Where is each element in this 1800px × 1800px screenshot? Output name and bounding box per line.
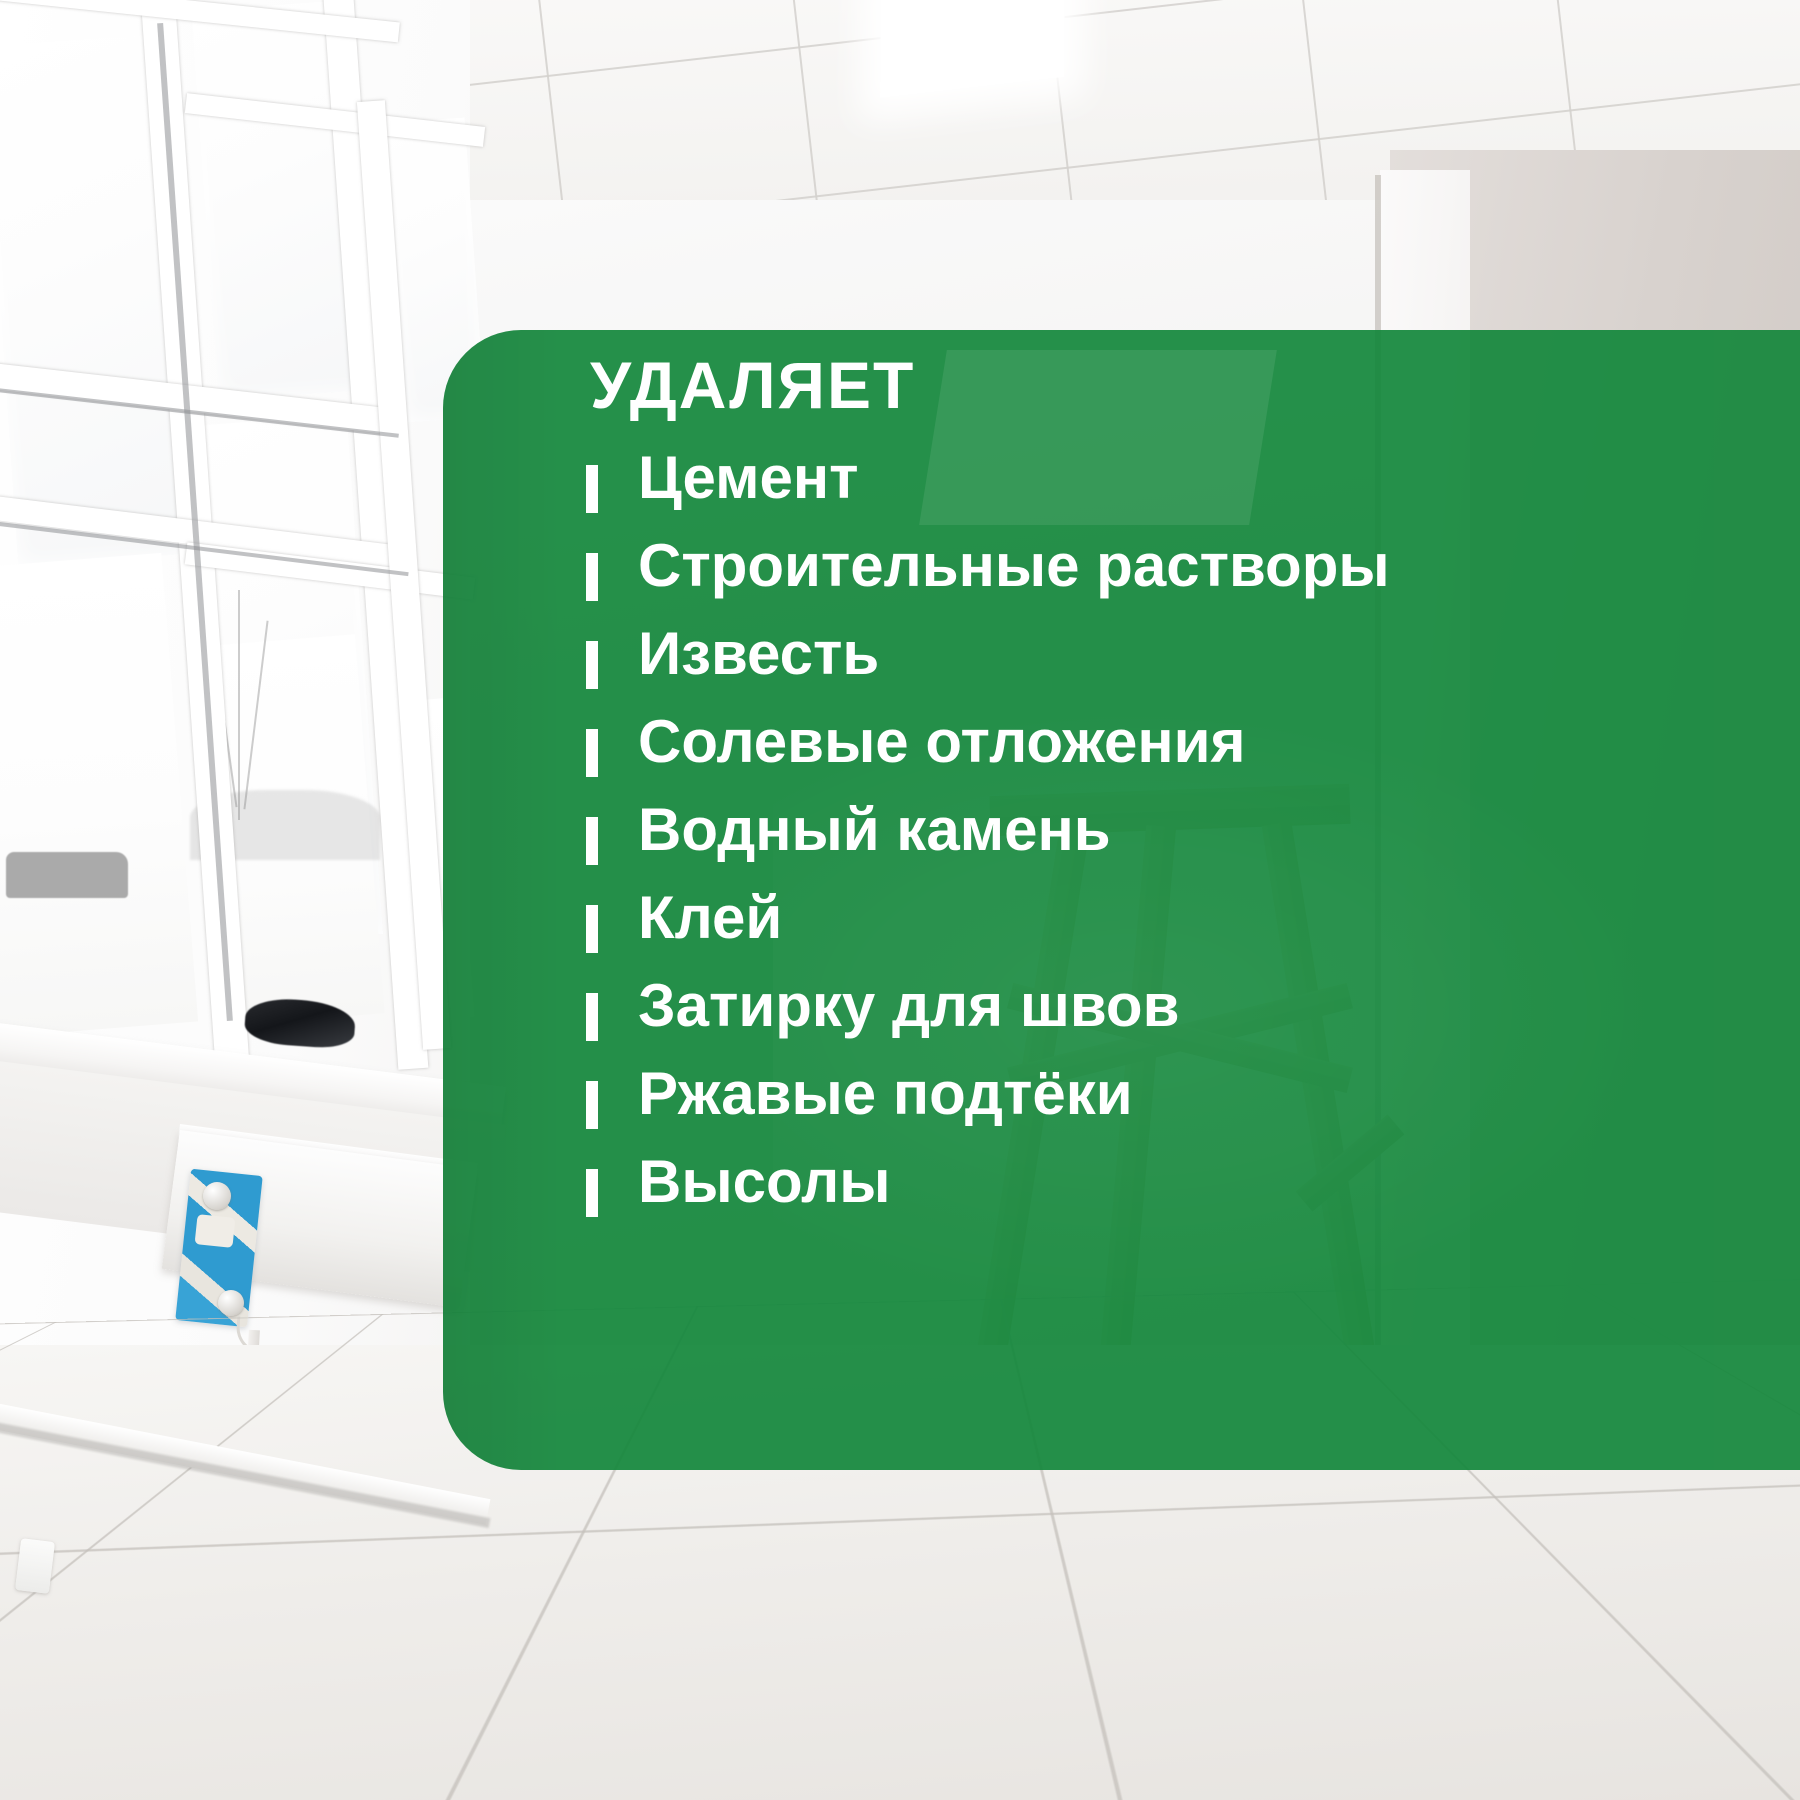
radiator-tape (195, 1214, 236, 1248)
bar-bullet-icon (586, 1169, 598, 1217)
list-item: Цемент (586, 448, 1786, 536)
list-item-label: Строительные растворы (638, 536, 1390, 596)
list-item-label: Ржавые подтёки (638, 1064, 1133, 1124)
page-title: УДАЛЯЕТ (590, 352, 915, 418)
list-item-label: Солевые отложения (638, 712, 1246, 772)
tree-outside (238, 590, 240, 820)
list-item-label: Известь (638, 624, 879, 684)
bar-bullet-icon (586, 993, 598, 1041)
list-item-label: Высолы (638, 1152, 890, 1212)
list-item-label: Водный камень (638, 800, 1111, 860)
list-item: Солевые отложения (586, 712, 1786, 800)
radiator-valve-knob (218, 1290, 244, 1316)
list-item-label: Клей (638, 888, 782, 948)
bar-bullet-icon (586, 817, 598, 865)
bar-bullet-icon (586, 729, 598, 777)
bar-bullet-icon (586, 465, 598, 513)
list-item: Ржавые подтёки (586, 1064, 1786, 1152)
list-item-label: Цемент (638, 448, 859, 508)
list-item: Известь (586, 624, 1786, 712)
power-socket (15, 1538, 55, 1594)
list-item: Клей (586, 888, 1786, 976)
list-item: Высолы (586, 1152, 1786, 1240)
bar-bullet-icon (586, 1081, 598, 1129)
bar-bullet-icon (586, 641, 598, 689)
bar-bullet-icon (586, 553, 598, 601)
removes-list: Цемент Строительные растворы Известь Сол… (586, 448, 1786, 1240)
list-item: Водный камень (586, 800, 1786, 888)
car-outside (6, 852, 128, 898)
radiator-valve-knob (203, 1182, 231, 1210)
list-item: Затирку для швов (586, 976, 1786, 1064)
list-item-label: Затирку для швов (638, 976, 1179, 1036)
list-item: Строительные растворы (586, 536, 1786, 624)
bar-bullet-icon (586, 905, 598, 953)
panel-content: УДАЛЯЕТ Цемент Строительные растворы Изв… (443, 330, 1800, 1470)
poster-canvas: УДАЛЯЕТ Цемент Строительные растворы Изв… (0, 0, 1800, 1800)
